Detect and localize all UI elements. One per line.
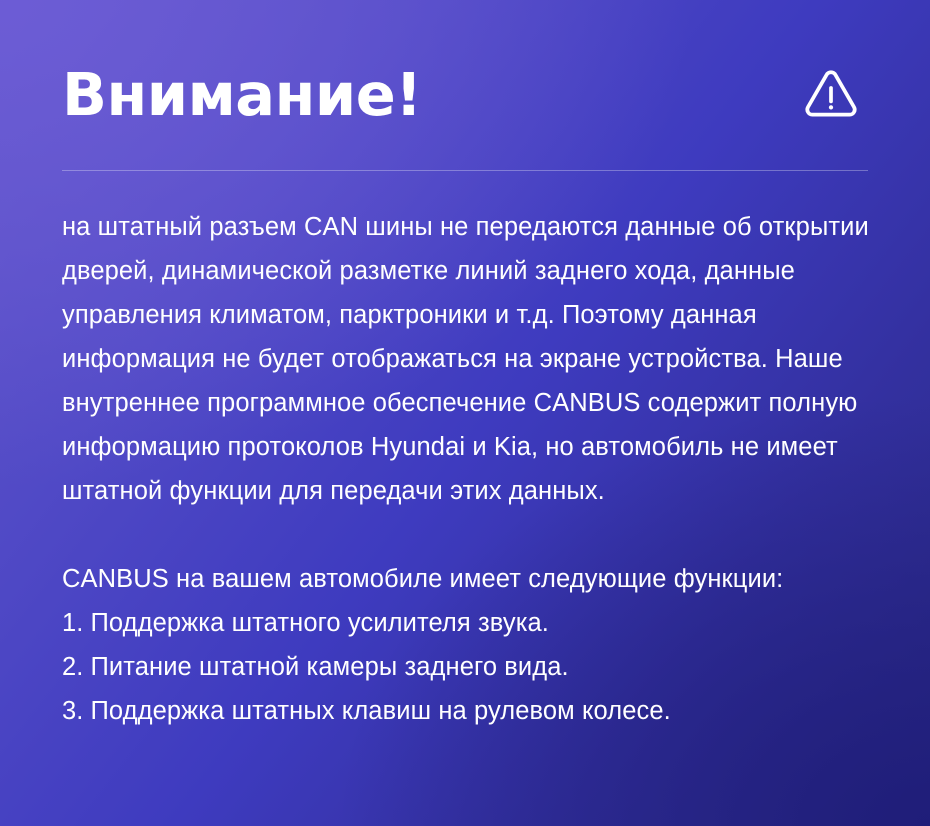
page-title: Внимание!	[62, 65, 422, 124]
list-item-label: Поддержка штатных клавиш на рулевом коле…	[90, 697, 670, 725]
list-item: 1.Поддержка штатного усилителя звука.	[62, 601, 882, 645]
functions-intro: CANBUS на вашем автомобиле имеет следующ…	[62, 557, 882, 601]
header-divider	[62, 170, 868, 171]
list-item-index: 1.	[62, 609, 83, 637]
notice-header: Внимание!	[62, 48, 868, 140]
list-item-label: Питание штатной камеры заднего вида.	[90, 653, 568, 681]
list-item: 2.Питание штатной камеры заднего вида.	[62, 645, 882, 689]
warning-triangle-icon	[802, 66, 860, 124]
functions-block: CANBUS на вашем автомобиле имеет следующ…	[62, 557, 882, 733]
list-item-index: 2.	[62, 653, 83, 681]
notice-body: на штатный разъем CAN шины не передаются…	[62, 205, 882, 733]
list-item-label: Поддержка штатного усилителя звука.	[90, 609, 549, 637]
functions-list: 1.Поддержка штатного усилителя звука. 2.…	[62, 601, 882, 733]
list-item-index: 3.	[62, 697, 83, 725]
list-item: 3.Поддержка штатных клавиш на рулевом ко…	[62, 689, 882, 733]
notice-paragraph: на штатный разъем CAN шины не передаются…	[62, 205, 882, 513]
warning-notice-card: Внимание! на штатный разъем CAN шины не …	[0, 0, 930, 826]
